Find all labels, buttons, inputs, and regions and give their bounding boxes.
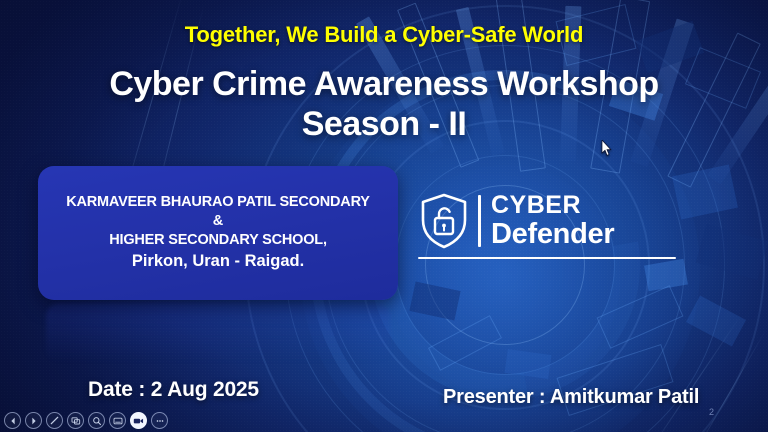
school-line-2: & xyxy=(48,212,388,231)
school-line-4: Pirkon, Uran - Raigad. xyxy=(48,251,388,273)
zoom-button[interactable] xyxy=(88,412,105,429)
presenter-name: Presenter : Amitkumar Patil xyxy=(443,386,699,409)
logo-divider xyxy=(478,195,481,247)
school-box-reflection xyxy=(46,303,390,363)
school-line-1: KARMAVEER BHAURAO PATIL SECONDARY xyxy=(48,193,388,212)
background-rect-10 xyxy=(428,315,502,371)
logo-underline xyxy=(418,257,676,259)
event-date: Date : 2 Aug 2025 xyxy=(88,378,259,402)
logo-word-defender: Defender xyxy=(491,219,614,249)
background-streak-4 xyxy=(686,328,767,432)
background-rect-5 xyxy=(672,164,738,219)
slide-number: 2 xyxy=(709,407,714,417)
camera-button[interactable] xyxy=(130,412,147,429)
subtitles-button[interactable] xyxy=(109,412,126,429)
page-title: Cyber Crime Awareness Workshop Season - … xyxy=(0,64,768,144)
previous-slide-button[interactable] xyxy=(4,412,21,429)
background-rect-11 xyxy=(409,282,460,321)
presentation-slide: Together, We Build a Cyber-Safe World Cy… xyxy=(0,0,768,432)
title-line-2: Season - II xyxy=(0,104,768,144)
cyber-defender-logo: CYBER Defender xyxy=(418,190,680,268)
background-rect-8 xyxy=(597,285,684,349)
school-name-box: KARMAVEER BHAURAO PATIL SECONDARY & HIGH… xyxy=(38,166,398,300)
background-rect-12 xyxy=(505,349,552,379)
slide-thumbnails-button[interactable] xyxy=(67,412,84,429)
next-slide-button[interactable] xyxy=(25,412,42,429)
pen-tool-button[interactable] xyxy=(46,412,63,429)
background-rect-6 xyxy=(696,224,768,280)
school-line-3: HIGHER SECONDARY SCHOOL, xyxy=(48,231,388,250)
background-streak-3 xyxy=(640,315,741,432)
title-line-1: Cyber Crime Awareness Workshop xyxy=(109,65,658,103)
more-options-button[interactable] xyxy=(151,412,168,429)
background-rect-9 xyxy=(686,296,746,347)
slide-tagline: Together, We Build a Cyber-Safe World xyxy=(0,22,768,48)
logo-word-cyber: CYBER xyxy=(491,193,614,218)
mouse-pointer xyxy=(601,140,612,156)
shield-padlock-icon xyxy=(418,192,470,250)
presentation-toolbar[interactable] xyxy=(4,412,168,429)
